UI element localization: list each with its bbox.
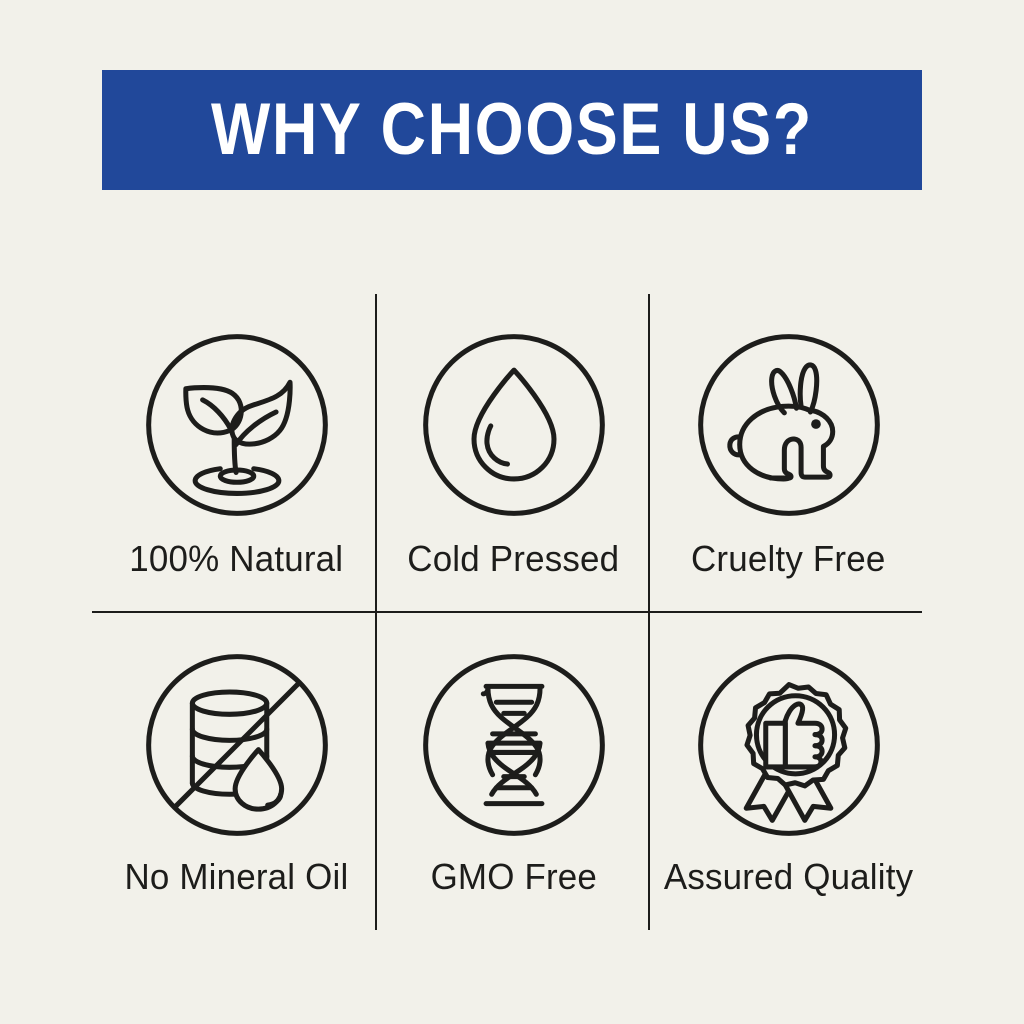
feature-cell-cold-pressed[interactable]: Cold Pressed [377, 294, 650, 612]
rabbit-icon [696, 332, 882, 518]
feature-cell-cruelty-free[interactable]: Cruelty Free [652, 294, 925, 612]
grid-divider-horizontal [92, 611, 922, 613]
sprout-plant-icon [144, 332, 330, 518]
feature-label: Assured Quality [664, 856, 913, 898]
dna-helix-icon [421, 652, 607, 838]
water-droplet-icon [421, 332, 607, 518]
feature-cell-assured-quality[interactable]: Assured Quality [652, 612, 925, 930]
feature-cell-natural[interactable]: 100% Natural [100, 294, 373, 612]
feature-label: GMO Free [430, 856, 596, 898]
feature-label: No Mineral Oil [125, 856, 349, 898]
page-title: WHY CHOOSE US? [211, 93, 813, 166]
feature-label: Cruelty Free [691, 538, 885, 580]
header-banner: WHY CHOOSE US? [102, 70, 922, 190]
no-oil-barrel-icon [144, 652, 330, 838]
award-badge-thumbs-up-icon [696, 652, 882, 838]
feature-label: 100% Natural [130, 538, 344, 580]
feature-cell-gmo-free[interactable]: GMO Free [377, 612, 650, 930]
feature-cell-no-mineral-oil[interactable]: No Mineral Oil [100, 612, 373, 930]
feature-label: Cold Pressed [408, 538, 620, 580]
